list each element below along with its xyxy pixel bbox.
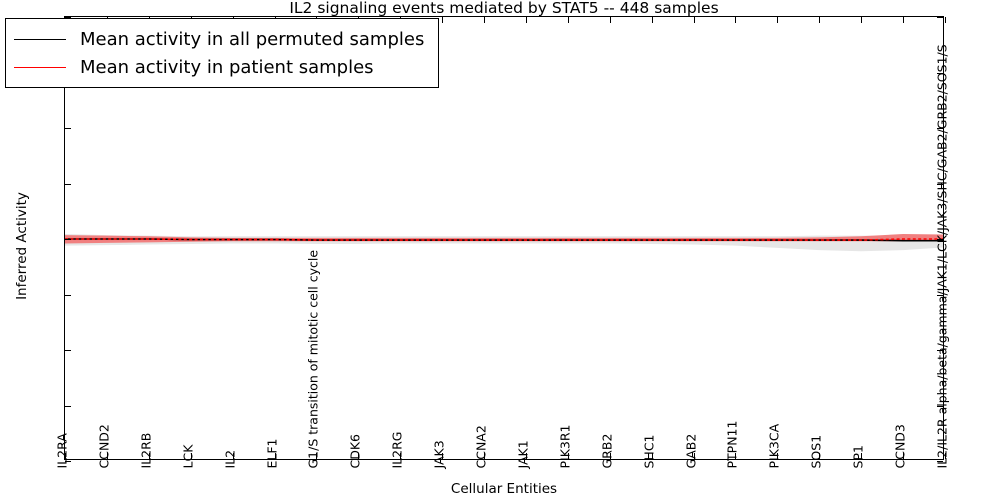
x-tick-label: IL2/IL2R alpha/beta/gamma/JAK1/LCK/JAK3/… [937,44,950,468]
x-tick-label: G1/S transition of mitotic cell cycle [308,250,321,469]
x-tick-label: GRB2 [601,434,614,469]
x-tick-label: PIK3CA [769,424,782,469]
x-tick-label: SP1 [853,445,866,468]
x-tick-label: JAK3 [434,440,447,468]
legend-item: Mean activity in patient samples [14,53,424,81]
confidence-band [65,234,943,251]
x-tick-label: LCK [182,445,195,469]
x-tick-label: CDK6 [350,434,363,469]
x-tick [442,17,443,23]
x-tick-label: GAB2 [685,434,698,469]
x-tick-label: SOS1 [811,435,824,469]
x-tick [568,17,569,23]
x-tick-label: ELF1 [266,438,279,468]
x-axis-title: Cellular Entities [64,481,944,497]
y-axis-title: Inferred Activity [14,166,30,326]
x-tick [735,17,736,23]
x-tick [945,17,946,23]
legend-swatch-patient [14,67,66,68]
legend-item: Mean activity in all permuted samples [14,25,424,53]
x-tick [610,17,611,23]
x-tick-label: IL2RB [140,433,153,469]
legend-label-permuted: Mean activity in all permuted samples [80,29,424,50]
x-tick-label: CCND3 [895,424,908,468]
x-tick-label: PTPN11 [727,421,740,469]
legend-swatch-permuted [14,39,66,40]
x-tick-label: JAK1 [517,440,530,468]
legend-label-patient: Mean activity in patient samples [80,57,374,78]
x-tick-label: IL2 [224,450,237,469]
y-tick [65,184,71,185]
chart-legend: Mean activity in all permuted samples Me… [5,18,439,88]
y-tick [65,295,71,296]
x-tick-label: CCNA2 [476,425,489,468]
x-tick-label: IL2RA [57,433,70,468]
x-tick-label: IL2RG [392,432,405,469]
y-tick [65,406,71,407]
x-tick [484,17,485,23]
x-tick [903,17,904,23]
y-tick [65,239,71,240]
x-tick [526,17,527,23]
chart-figure: IL2 signaling events mediated by STAT5 -… [0,0,1000,500]
y-tick [65,128,71,129]
x-tick [819,17,820,23]
x-tick-label: SHC1 [643,434,656,468]
x-tick [861,17,862,23]
x-tick [777,17,778,23]
x-tick [694,17,695,23]
x-tick-label: PIK3R1 [559,424,572,468]
y-tick [937,17,943,18]
x-tick [652,17,653,23]
x-tick-label: CCND2 [98,424,111,468]
chart-title: IL2 signaling events mediated by STAT5 -… [64,0,944,17]
y-tick [65,350,71,351]
